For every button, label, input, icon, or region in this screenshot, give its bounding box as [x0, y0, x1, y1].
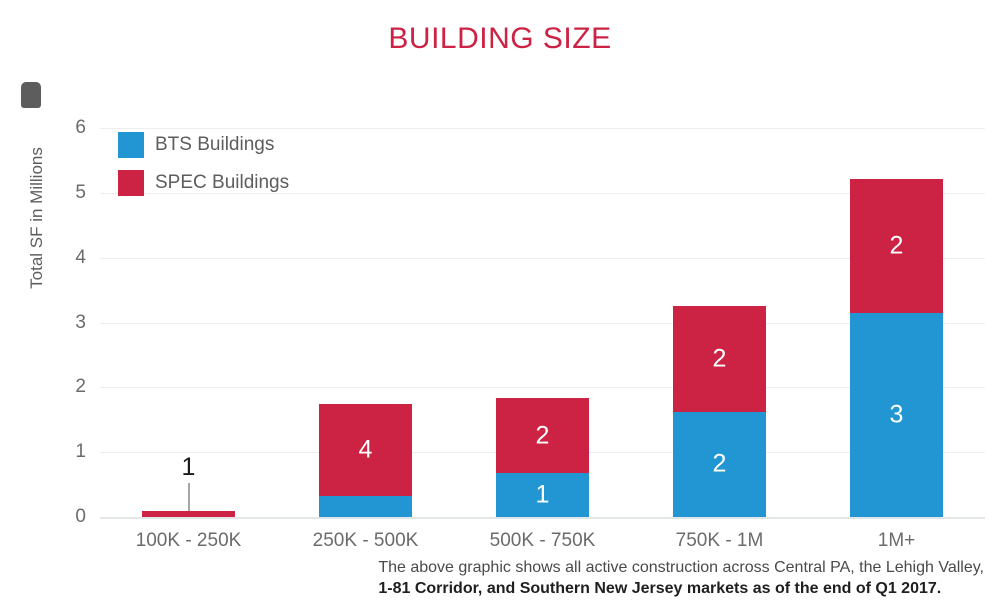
leader-line	[188, 483, 190, 511]
bar-segment[interactable]: 2	[850, 179, 943, 313]
y-tick-label: 4	[52, 247, 86, 269]
bar-segment[interactable]: 4	[319, 404, 412, 496]
x-axis-tick-labels: 100K - 250K250K - 500K500K - 750K750K - …	[100, 530, 985, 560]
y-tick-label: 0	[52, 506, 86, 528]
bar-segment[interactable]: 1	[496, 473, 589, 517]
gridline-0	[100, 517, 985, 519]
y-tick-label: 6	[52, 117, 86, 139]
bar-value-label: 1	[496, 482, 589, 507]
bar-group[interactable]: 12	[496, 128, 589, 517]
y-tick-label: 3	[52, 312, 86, 334]
bar-value-label: 2	[496, 423, 589, 448]
chart-caption: The above graphic shows all active const…	[378, 557, 984, 599]
bar-segment[interactable]: 3	[850, 313, 943, 517]
y-tick-label: 2	[52, 376, 86, 398]
legend-item-label: BTS Buildings	[155, 134, 274, 156]
x-tick-label: 1M+	[787, 530, 1000, 552]
bar-value-label: 4	[319, 437, 412, 462]
legend-item-label: SPEC Buildings	[155, 172, 289, 194]
bar-value-label: 2	[850, 233, 943, 258]
bar-segment[interactable]	[319, 496, 412, 517]
bar-group[interactable]: 22	[673, 128, 766, 517]
y-axis-title: Total SF in Millions	[27, 113, 47, 323]
legend-item[interactable]: BTS Buildings	[118, 128, 348, 162]
bar-group[interactable]: 32	[850, 128, 943, 517]
building-size-chart: BUILDING SIZE Total SF in Millions 01234…	[0, 0, 1000, 605]
bar-value-label-outside: 1	[142, 455, 235, 480]
bar-segment[interactable]: 2	[496, 398, 589, 473]
axis-marker-icon	[21, 82, 41, 108]
caption-line-2: 1-81 Corridor, and Southern New Jersey m…	[378, 578, 984, 599]
legend-swatch-spec	[118, 170, 144, 196]
legend-swatch-bts	[118, 132, 144, 158]
y-tick-label: 5	[52, 182, 86, 204]
bar-value-label: 3	[850, 402, 943, 427]
chart-title: BUILDING SIZE	[0, 22, 1000, 56]
bar-segment[interactable]	[142, 511, 235, 517]
bar-value-label: 2	[673, 347, 766, 372]
legend-item[interactable]: SPEC Buildings	[118, 166, 348, 200]
bar-segment[interactable]: 2	[673, 306, 766, 412]
y-axis-tick-labels: 0123456	[48, 128, 86, 517]
y-tick-label: 1	[52, 441, 86, 463]
caption-line-1: The above graphic shows all active const…	[378, 557, 984, 578]
chart-legend: BTS BuildingsSPEC Buildings	[118, 128, 348, 204]
bar-segment[interactable]: 2	[673, 412, 766, 517]
bar-value-label: 2	[673, 452, 766, 477]
